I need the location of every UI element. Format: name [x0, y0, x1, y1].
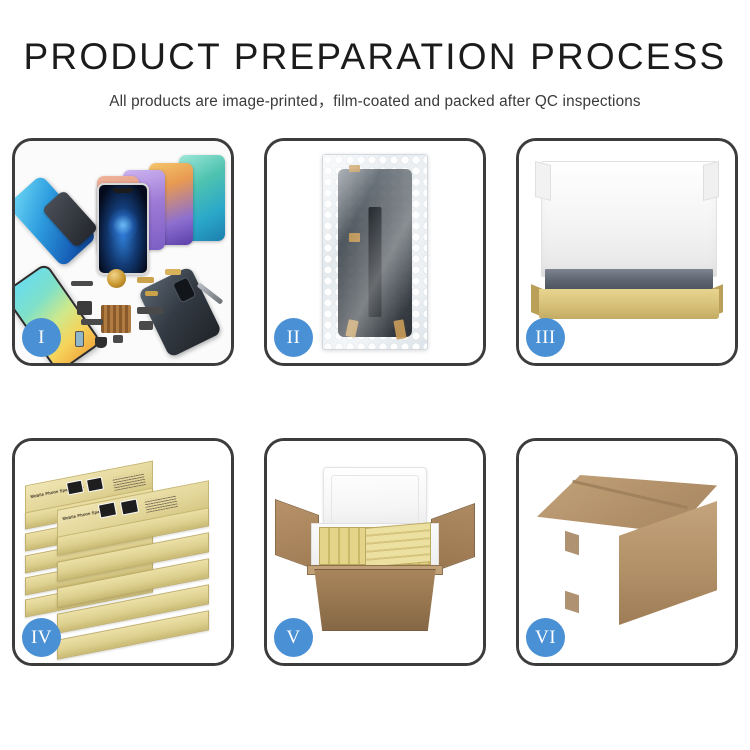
tape-strip-icon	[349, 233, 360, 242]
spare-part-icon	[71, 281, 93, 286]
phone-front-glass-icon	[97, 183, 149, 275]
step-panel-3[interactable]: III	[516, 138, 738, 366]
packed-yellow-boxes-icon	[365, 522, 431, 568]
step-badge-4: IV	[22, 618, 61, 657]
spare-part-icon	[139, 321, 153, 330]
bubble-wrap-bag-icon	[322, 154, 428, 350]
speaker-coil-icon	[107, 269, 126, 288]
spare-part-icon	[137, 307, 163, 314]
kraft-box-front-icon	[539, 289, 719, 319]
step-badge-2: II	[274, 318, 313, 357]
tape-strip-icon	[349, 165, 360, 172]
step-badge-3: III	[526, 318, 565, 357]
step-badge-6: VI	[526, 618, 565, 657]
step-badge-1: I	[22, 318, 61, 357]
process-step-grid: I II	[12, 138, 738, 666]
page-title: PRODUCT PREPARATION PROCESS	[0, 38, 750, 75]
chip-array-icon	[101, 305, 131, 333]
lid-flap-left-icon	[535, 161, 551, 201]
step-panel-4[interactable]: Mobile Phone Spare Parts Mobile Phone Sp…	[12, 438, 234, 666]
step-panel-1[interactable]: I	[12, 138, 234, 366]
step-panel-5[interactable]: V	[264, 438, 486, 666]
step-panel-6[interactable]: VI	[516, 438, 738, 666]
spare-part-icon	[137, 277, 154, 283]
header: PRODUCT PREPARATION PROCESS All products…	[0, 0, 750, 111]
bubble-wrapped-contents-icon	[545, 269, 713, 291]
step-panel-2[interactable]: II	[264, 138, 486, 366]
spare-part-icon	[165, 269, 181, 275]
carton-tape-icon	[565, 531, 579, 556]
step-badge-5: V	[274, 618, 313, 657]
spare-part-icon	[75, 331, 84, 347]
product-preparation-infographic: PRODUCT PREPARATION PROCESS All products…	[0, 0, 750, 750]
spare-part-icon	[145, 291, 158, 296]
carton-body-icon	[309, 569, 441, 631]
lid-flap-right-icon	[703, 161, 719, 201]
white-box-lid-icon	[541, 161, 717, 277]
page-subtitle: All products are image-printed，film-coat…	[0, 89, 750, 111]
flex-cable-icon	[369, 207, 382, 317]
spare-part-icon	[81, 319, 103, 325]
spare-part-icon	[77, 301, 92, 315]
spare-part-icon	[95, 337, 107, 348]
spare-part-icon	[113, 335, 123, 343]
